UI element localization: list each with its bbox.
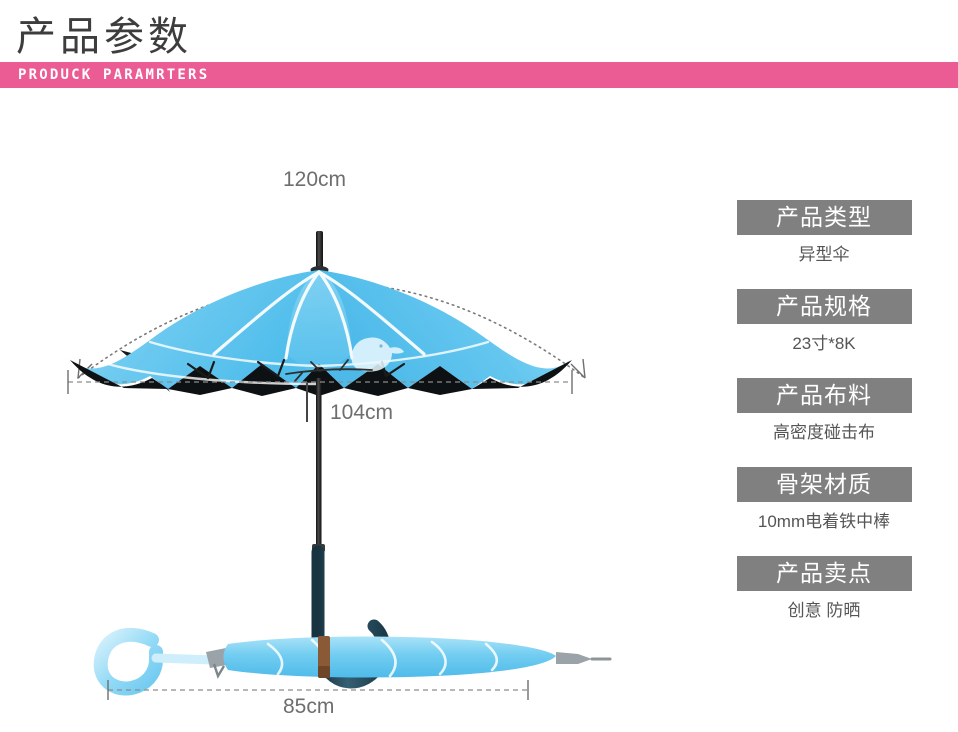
- folded-strap: [318, 636, 330, 678]
- spec-value-product-type: 异型伞: [690, 235, 958, 270]
- page-header: 产品参数 PRODUCK PARAMRTERS: [0, 0, 958, 92]
- folded-shaft: [156, 658, 214, 660]
- page-title: 产品参数: [16, 14, 192, 60]
- umbrella-open: [68, 231, 572, 682]
- spec-row-fabric: 产品布料 高密度碰击布: [690, 378, 958, 448]
- spec-label-product-spec: 产品规格: [737, 289, 912, 324]
- spec-row-product-type: 产品类型 异型伞: [690, 200, 958, 270]
- spec-label-product-type: 产品类型: [737, 200, 912, 235]
- dimension-label-folded-length: 85cm: [283, 695, 334, 719]
- spec-label-frame-material: 骨架材质: [737, 467, 912, 502]
- spec-label-selling-point: 产品卖点: [737, 556, 912, 591]
- umbrella-ferrule: [311, 231, 329, 274]
- spec-label-fabric: 产品布料: [737, 378, 912, 413]
- dimension-label-height: 104cm: [330, 401, 393, 425]
- spec-row-frame-material: 骨架材质 10mm电着铁中棒: [690, 467, 958, 537]
- folded-canopy: [224, 637, 557, 678]
- spec-list: 产品类型 异型伞 产品规格 23寸*8K 产品布料 高密度碰击布 骨架材质 10…: [690, 200, 958, 645]
- folded-hook: [101, 635, 156, 689]
- spec-value-selling-point: 创意 防晒: [690, 591, 958, 626]
- spec-value-product-spec: 23寸*8K: [690, 324, 958, 359]
- page-subtitle: PRODUCK PARAMRTERS: [18, 65, 209, 85]
- folded-tip: [556, 652, 592, 664]
- dimension-label-canopy-span: 120cm: [283, 168, 346, 192]
- product-illustration: 120cm 104cm 85cm: [0, 92, 690, 732]
- umbrella-shaft: [316, 378, 322, 558]
- product-parameters-page: 产品参数 PRODUCK PARAMRTERS: [0, 0, 958, 732]
- spec-value-frame-material: 10mm电着铁中棒: [690, 502, 958, 537]
- spec-row-selling-point: 产品卖点 创意 防晒: [690, 556, 958, 626]
- spec-value-fabric: 高密度碰击布: [690, 413, 958, 448]
- spec-row-product-spec: 产品规格 23寸*8K: [690, 289, 958, 359]
